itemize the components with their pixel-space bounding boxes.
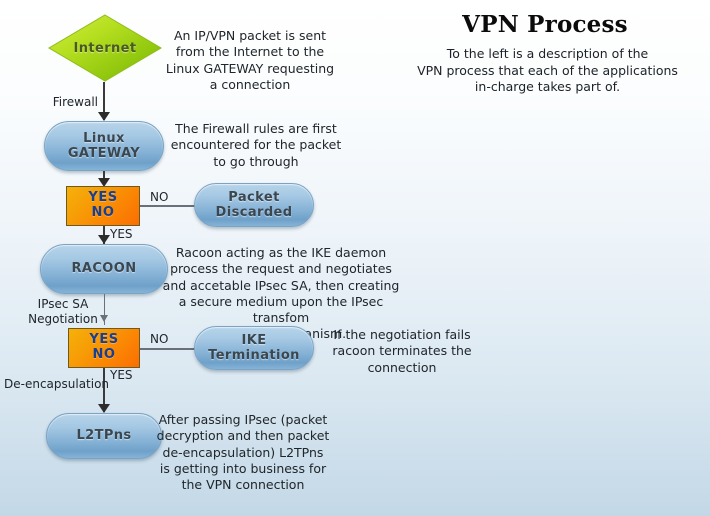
- note-internet: An IP/VPN packet is sent from the Intern…: [160, 28, 340, 93]
- edge-label-firewall: Firewall: [34, 95, 98, 110]
- connector-decision-packet-discarded: [140, 205, 200, 207]
- arrowhead-racoon-icon: [98, 235, 110, 244]
- node-packet-discarded-label: Packet Discarded: [216, 190, 293, 221]
- node-packet-discarded[interactable]: Packet Discarded: [194, 183, 314, 227]
- node-ike-decision-label: YES NO: [89, 333, 118, 363]
- edge-label-deencapsulation: De-encapsulation: [4, 377, 100, 392]
- node-ike-decision[interactable]: YES NO: [68, 328, 140, 368]
- page-title: VPN Process: [420, 11, 670, 38]
- node-internet-label: Internet: [73, 41, 136, 56]
- node-l2tpns[interactable]: L2TPns: [46, 413, 162, 459]
- node-firewall-decision[interactable]: YES NO: [66, 186, 140, 226]
- arrowhead-gateway-icon: [98, 112, 110, 121]
- node-racoon[interactable]: RACOON: [40, 244, 168, 294]
- node-racoon-label: RACOON: [72, 261, 137, 276]
- node-ike-termination-label: IKE Termination: [208, 333, 300, 364]
- connector-decision-ike-termination: [140, 348, 200, 350]
- note-ike-termination: If the negotiation fails racoon terminat…: [316, 327, 488, 376]
- node-internet[interactable]: Internet: [48, 14, 162, 82]
- edge-label-ike-yes: YES: [110, 368, 133, 383]
- edge-label-gateway-yes: YES: [110, 227, 133, 242]
- edge-label-ipsec-sa: IPsec SA Negotiation: [24, 297, 102, 327]
- diagram-canvas: VPN Process To the left is a description…: [0, 0, 710, 516]
- node-firewall-decision-label: YES NO: [88, 191, 117, 221]
- node-l2tpns-label: L2TPns: [76, 428, 131, 443]
- arrowhead-l2tpns-icon: [98, 404, 110, 413]
- node-linux-gateway[interactable]: Linux GATEWAY: [44, 121, 164, 171]
- edge-label-ike-no: NO: [150, 332, 168, 347]
- note-l2tpns: After passing IPsec (packet decryption a…: [148, 412, 338, 493]
- edge-label-discard-no: NO: [150, 190, 168, 205]
- page-subtitle: To the left is a description of the VPN …: [410, 46, 685, 96]
- node-linux-gateway-label: Linux GATEWAY: [68, 131, 140, 162]
- note-gateway: The Firewall rules are first encountered…: [166, 121, 346, 170]
- node-ike-termination[interactable]: IKE Termination: [194, 326, 314, 370]
